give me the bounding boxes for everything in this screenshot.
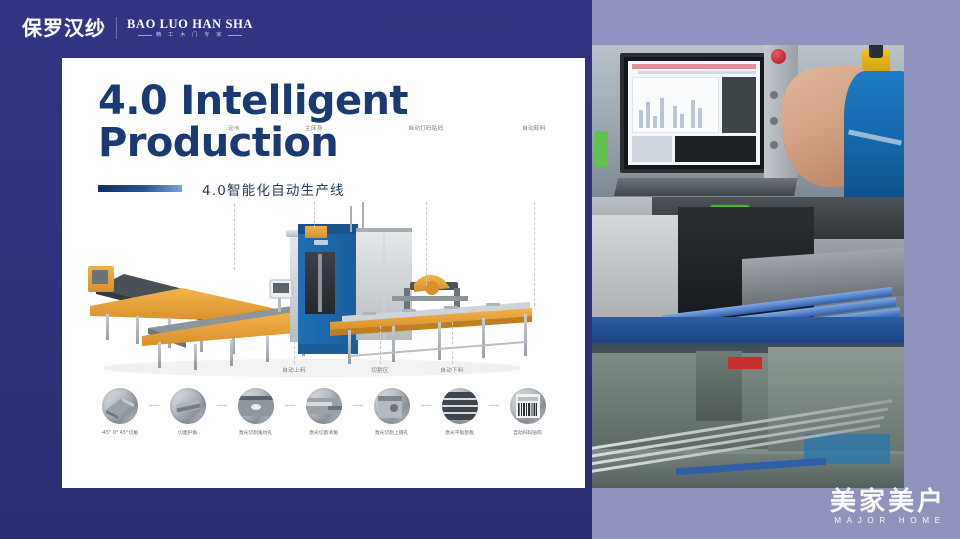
control-knob-icon <box>770 117 778 125</box>
process-caption: 激光切割清角 <box>309 429 338 436</box>
process-step[interactable]: 激光切割角纹孔 <box>227 388 285 436</box>
leader-line <box>294 316 295 364</box>
callout-label: 自动打码贴码 <box>408 124 443 132</box>
page-title: 4.0 Intelligent Production <box>98 80 548 165</box>
machine-svg <box>62 196 585 396</box>
process-caption: -45° 0° 45°切角 <box>101 429 138 436</box>
screen-chart <box>632 77 719 133</box>
process-caption: 激光平板割板 <box>445 429 474 436</box>
brand-logo: 保罗汉纱 BAO LUO HAN SHA 精 工 木 门 专 家 <box>22 11 253 45</box>
watermark-name-cn: 美家美户 <box>830 489 946 515</box>
cnc-monitor <box>620 53 768 173</box>
process-step[interactable]: 自动扫码贴码 <box>499 388 557 436</box>
step-connector <box>489 405 499 406</box>
process-step[interactable]: 切面护角 <box>159 388 217 436</box>
callout-label: 主床身 <box>305 124 323 132</box>
screen-alert-bar <box>632 64 756 69</box>
callout-label: 自动卸料 <box>522 124 546 132</box>
process-caption: 切面护角 <box>178 429 197 436</box>
laser-level-icon <box>442 388 478 424</box>
process-icon-strip: -45° 0° 45°切角 切面护角 激光切割角纹孔 <box>62 388 585 458</box>
process-caption: 自动扫码贴码 <box>513 429 542 436</box>
title-block: 4.0 Intelligent Production 4.0智能化自动生产线 <box>98 80 548 199</box>
cnc-keyboard <box>614 178 798 196</box>
process-caption: 激光切割角纹孔 <box>239 429 273 436</box>
brand-divider <box>116 17 117 39</box>
callout-label: 动卡 <box>228 124 240 132</box>
process-step[interactable]: 激光切割清角 <box>295 388 353 436</box>
step-connector <box>353 405 363 406</box>
watermark-name-en: MAJOR HOME <box>830 517 946 525</box>
leader-line <box>234 204 235 270</box>
title-accent-bar <box>98 185 182 192</box>
presentation-slide: 保罗汉纱 BAO LUO HAN SHA 精 工 木 门 专 家 4.0 Int… <box>0 0 960 539</box>
step-connector <box>421 405 431 406</box>
cnc-screen <box>628 61 760 165</box>
brand-name-cn: 保罗汉纱 <box>22 18 106 38</box>
photo-operator-cnc-panel <box>592 45 904 200</box>
laser-cut-slot-icon <box>306 388 342 424</box>
process-caption: 激光切割上锁孔 <box>375 429 409 436</box>
lower-blue-band <box>592 317 904 345</box>
machine-illustration <box>62 196 585 396</box>
emergency-stop-icon <box>771 49 786 64</box>
photo-column <box>592 0 960 539</box>
tagline-rule-left <box>138 35 152 36</box>
step-connector <box>285 405 295 406</box>
screen-body <box>628 77 760 133</box>
leader-line <box>380 326 381 364</box>
operator-uniform <box>844 71 904 200</box>
production-line-diagram: 动卡 主床身 自动打码贴码 自动卸料 自动上料 切割区 自动下料 <box>62 196 585 436</box>
photo-extrusion-line <box>592 343 904 488</box>
process-step[interactable]: 激光平板割板 <box>431 388 489 436</box>
content-card: 4.0 Intelligent Production 4.0智能化自动生产线 <box>62 58 585 488</box>
machine-side-cabinet <box>592 215 684 327</box>
leader-line <box>452 322 453 364</box>
control-knob-icon <box>770 91 778 99</box>
brand-name-en: BAO LUO HAN SHA <box>127 18 253 31</box>
tagline-rule-right <box>228 35 242 36</box>
profile-protect-icon <box>170 388 206 424</box>
brand-tagline-cn: 精 工 木 门 专 家 <box>156 33 224 38</box>
callout-label: 自动下料 <box>440 366 464 374</box>
auto-barcode-icon <box>510 388 546 424</box>
green-machine-part <box>594 131 608 167</box>
step-connector <box>217 405 227 406</box>
control-knob-icon <box>770 141 778 149</box>
laser-round-hole-icon <box>238 388 274 424</box>
leader-line <box>534 202 535 306</box>
leader-line <box>314 202 315 228</box>
red-brand-plate <box>728 357 762 369</box>
screen-footer <box>632 136 756 162</box>
process-step[interactable]: -45° 0° 45°切角 <box>91 388 149 436</box>
step-connector <box>149 405 159 406</box>
screen-title-bar <box>638 71 756 74</box>
screen-preview-panel <box>722 77 756 133</box>
callout-label: 自动上料 <box>282 366 306 374</box>
laser-lock-hole-icon <box>374 388 410 424</box>
leader-line <box>426 202 427 286</box>
brand-tagline-row: 精 工 木 门 专 家 <box>127 33 253 38</box>
photo-machine-interior <box>592 197 904 345</box>
callout-label: 切割区 <box>371 366 389 374</box>
brand-name-en-group: BAO LUO HAN SHA 精 工 木 门 专 家 <box>127 18 253 38</box>
watermark-logo: 美家美户 MAJOR HOME <box>830 489 946 525</box>
angle-cut-icon <box>102 388 138 424</box>
process-step[interactable]: 激光切割上锁孔 <box>363 388 421 436</box>
